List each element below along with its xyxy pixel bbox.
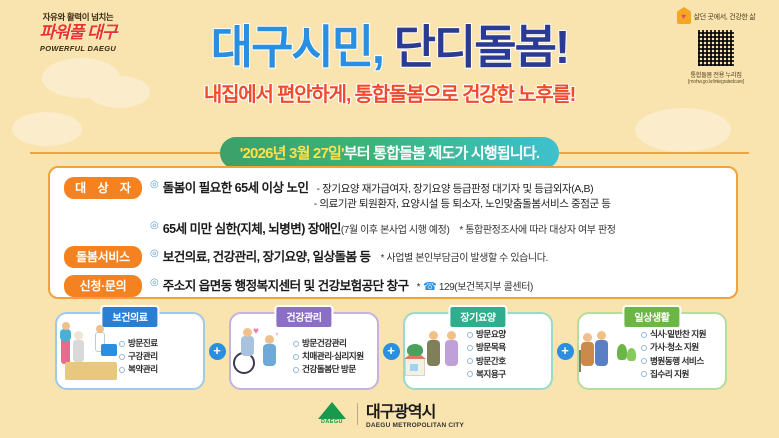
- item-label: 복약관리: [128, 364, 158, 374]
- illustration-clinic-visit: [57, 314, 119, 388]
- row-services-note: * 사업별 본인부담금이 발생할 수 있습니다.: [381, 249, 548, 264]
- footer: DAEGU 대구광역시 DAEGU METROPOLITAN CITY: [0, 398, 779, 429]
- item-label: 방문진료: [128, 338, 158, 348]
- item-label: 건강돌봄단 방문: [302, 364, 356, 374]
- daegu-triangle-icon: [318, 402, 346, 419]
- chevron-bullet-icon: ◎: [150, 218, 159, 233]
- chevron-bullet-icon: ◎: [150, 177, 159, 192]
- list-item: 방문간호: [467, 355, 547, 368]
- bullet-dot-icon: [293, 354, 299, 360]
- bullet-dot-icon: [119, 341, 125, 347]
- item-label: 가사·청소 지원: [650, 342, 699, 352]
- illustration-wheelchair-care: ♥ ♥: [231, 314, 293, 388]
- list-item: 병원동행 서비스: [641, 355, 721, 368]
- row-apply-note: 129(보건복지부 콜센터): [439, 278, 533, 293]
- bullet-dot-icon: [467, 345, 473, 351]
- page-title: 대구시민, 단디돌봄!: [0, 24, 779, 70]
- tag-services: 돌봄서비스: [64, 246, 142, 268]
- item-label: 방문간호: [476, 356, 506, 366]
- house-heart-icon: ♥: [677, 10, 691, 24]
- bullet-dot-icon: [119, 367, 125, 373]
- footer-divider: [357, 403, 358, 425]
- plus-icon: +: [209, 343, 226, 360]
- tag-target: 대 상 자: [64, 177, 142, 199]
- ministry-emblem: ♥ 살던 곳에서, 건강한 삶: [661, 10, 771, 24]
- list-item: 건강돌봄단 방문: [293, 363, 373, 376]
- brand-tagline: 자유와 활력이 넘치는: [22, 11, 134, 23]
- city-name-ko: 대구광역시: [366, 398, 464, 422]
- card-items-health-medical: 방문진료 구강관리 복약관리: [119, 326, 203, 376]
- row-target-detail-2: - 의료기관 퇴원환자, 요양시설 등 퇴소자, 노인맞춤돌봄서비스 중점군 등: [314, 197, 611, 212]
- bullet-dot-icon: [467, 371, 473, 377]
- list-item: 복약관리: [119, 363, 199, 376]
- chevron-bullet-icon: ◎: [150, 246, 159, 261]
- service-cards: 보건의료 방문진료 구강관리 복약관리 + 건강관리: [55, 312, 727, 390]
- city-name-en: DAEGU METROPOLITAN CITY: [366, 422, 464, 429]
- illustration-walking-support: [579, 314, 641, 388]
- emblem-text: 살던 곳에서, 건강한 삶: [694, 12, 756, 22]
- row-disability-paren: (7월 이후 본사업 시행 예정): [341, 221, 450, 236]
- plus-icon: +: [383, 343, 400, 360]
- plus-icon: +: [557, 343, 574, 360]
- list-item: 가사·청소 지원: [641, 341, 721, 354]
- chevron-bullet-icon: ◎: [150, 275, 159, 290]
- list-item: 방문건강관리: [293, 337, 373, 350]
- list-item: 식사·밑반찬 지원: [641, 328, 721, 341]
- list-item: 복지용구: [467, 368, 547, 381]
- list-item: 치매관리·심리지원: [293, 350, 373, 363]
- title-part2: 단디돌봄!: [394, 21, 569, 73]
- list-item: 방문요양: [467, 328, 547, 341]
- item-label: 방문목욕: [476, 342, 506, 352]
- info-row-target: 대 상 자 ◎ 돌봄이 필요한 65세 이상 노인 - 장기요양 재가급여자, …: [50, 177, 736, 212]
- card-items-daily-life: 식사·밑반찬 지원 가사·청소 지원 병원동행 서비스 집수리 지원: [641, 321, 725, 380]
- list-item: 방문진료: [119, 337, 199, 350]
- headline-block: 대구시민, 단디돌봄! 내집에서 편안하게, 통합돌봄으로 건강한 노후를!: [0, 24, 779, 107]
- bullet-dot-icon: [641, 345, 647, 351]
- banner-rule-left: [30, 152, 220, 154]
- item-label: 방문요양: [476, 329, 506, 339]
- bullet-dot-icon: [641, 332, 647, 338]
- title-part1: 대구시민,: [211, 21, 383, 73]
- item-label: 집수리 지원: [650, 369, 689, 379]
- item-label: 복지용구: [476, 369, 506, 379]
- row-disability-note: * 통합판정조사에 따라 대상자 여부 판정: [459, 221, 615, 236]
- bullet-dot-icon: [293, 341, 299, 347]
- bullet-dot-icon: [641, 358, 647, 364]
- card-items-long-term-care: 방문요양 방문목욕 방문간호 복지용구: [467, 321, 551, 380]
- footer-names: 대구광역시 DAEGU METROPOLITAN CITY: [366, 398, 464, 429]
- row-target-main: 돌봄이 필요한 65세 이상 노인: [163, 177, 309, 196]
- info-row-services: 돌봄서비스 ◎ 보건의료, 건강관리, 장기요양, 일상돌봄 등 * 사업별 본…: [50, 246, 736, 268]
- info-panel: 대 상 자 ◎ 돌봄이 필요한 65세 이상 노인 - 장기요양 재가급여자, …: [48, 166, 738, 299]
- row-apply-main: 주소지 읍면동 행정복지센터 및 건강보험공단 창구: [163, 275, 409, 294]
- service-card-health-medical[interactable]: 보건의료 방문진료 구강관리 복약관리: [55, 312, 205, 390]
- bullet-dot-icon: [467, 332, 473, 338]
- effective-date-banner: '2026년 3월 27일'부터 통합돌봄 제도가 시행됩니다.: [220, 137, 560, 169]
- info-row-apply: 신청·문의 ◎ 주소지 읍면동 행정복지센터 및 건강보험공단 창구 * ☎ 1…: [50, 275, 736, 297]
- item-label: 방문건강관리: [302, 338, 346, 348]
- banner-highlight: '2026년 3월 27일': [240, 145, 344, 162]
- daegu-logo-icon: DAEGU: [315, 402, 349, 425]
- bullet-dot-icon: [641, 371, 647, 377]
- bullet-dot-icon: [467, 358, 473, 364]
- item-label: 병원동행 서비스: [650, 356, 704, 366]
- service-card-health-care[interactable]: 건강관리 ♥ ♥ 방문건강관리 치매관리·심리지원 건강돌봄단 방문: [229, 312, 379, 390]
- service-card-long-term-care[interactable]: 장기요양 방문요양 방문목욕 방문간호 복지용구: [403, 312, 553, 390]
- bullet-dot-icon: [293, 367, 299, 373]
- bullet-dot-icon: [119, 354, 125, 360]
- list-item: 집수리 지원: [641, 368, 721, 381]
- row-target-detail-1: - 장기요양 재가급여자, 장기요양 등급판정 대기자 및 등급외자(A,B): [317, 182, 594, 197]
- banner-rule-right: [559, 152, 749, 154]
- row-disability-main: 65세 미만 심한(지체, 뇌병변) 장애인: [163, 218, 341, 237]
- daegu-mark-label: DAEGU: [315, 419, 349, 425]
- plus-connector: +: [553, 343, 577, 360]
- item-label: 식사·밑반찬 지원: [650, 329, 706, 339]
- plus-connector: +: [379, 343, 403, 360]
- page-subtitle: 내집에서 편안하게, 통합돌봄으로 건강한 노후를!: [0, 78, 779, 107]
- banner-rest: 부터 통합돌봄 제도가 시행됩니다.: [344, 145, 539, 162]
- tag-apply: 신청·문의: [64, 275, 142, 297]
- row-services-main: 보건의료, 건강관리, 장기요양, 일상돌봄 등: [163, 246, 371, 265]
- list-item: 방문목욕: [467, 341, 547, 354]
- card-items-health-care: 방문건강관리 치매관리·심리지원 건강돌봄단 방문: [293, 326, 377, 376]
- info-row-disability: ◎ 65세 미만 심한(지체, 뇌병변) 장애인 (7월 이후 본사업 시행 예…: [50, 218, 736, 237]
- list-item: 구강관리: [119, 350, 199, 363]
- item-label: 구강관리: [128, 351, 158, 361]
- plus-connector: +: [205, 343, 229, 360]
- service-card-daily-life[interactable]: 일상생활 식사·밑반찬 지원 가사·청소 지원 병원동행 서비스 집수리 지원: [577, 312, 727, 390]
- row-apply-note-prefix: *: [417, 282, 421, 293]
- poster-root: 자유와 활력이 넘치는 파워풀 대구 POWERFUL DAEGU ♥ 살던 곳…: [0, 0, 779, 438]
- illustration-home-elderly: [405, 314, 467, 388]
- item-label: 치매관리·심리지원: [302, 351, 364, 361]
- banner-row: '2026년 3월 27일'부터 통합돌봄 제도가 시행됩니다.: [0, 137, 779, 169]
- phone-icon: ☎: [423, 280, 437, 293]
